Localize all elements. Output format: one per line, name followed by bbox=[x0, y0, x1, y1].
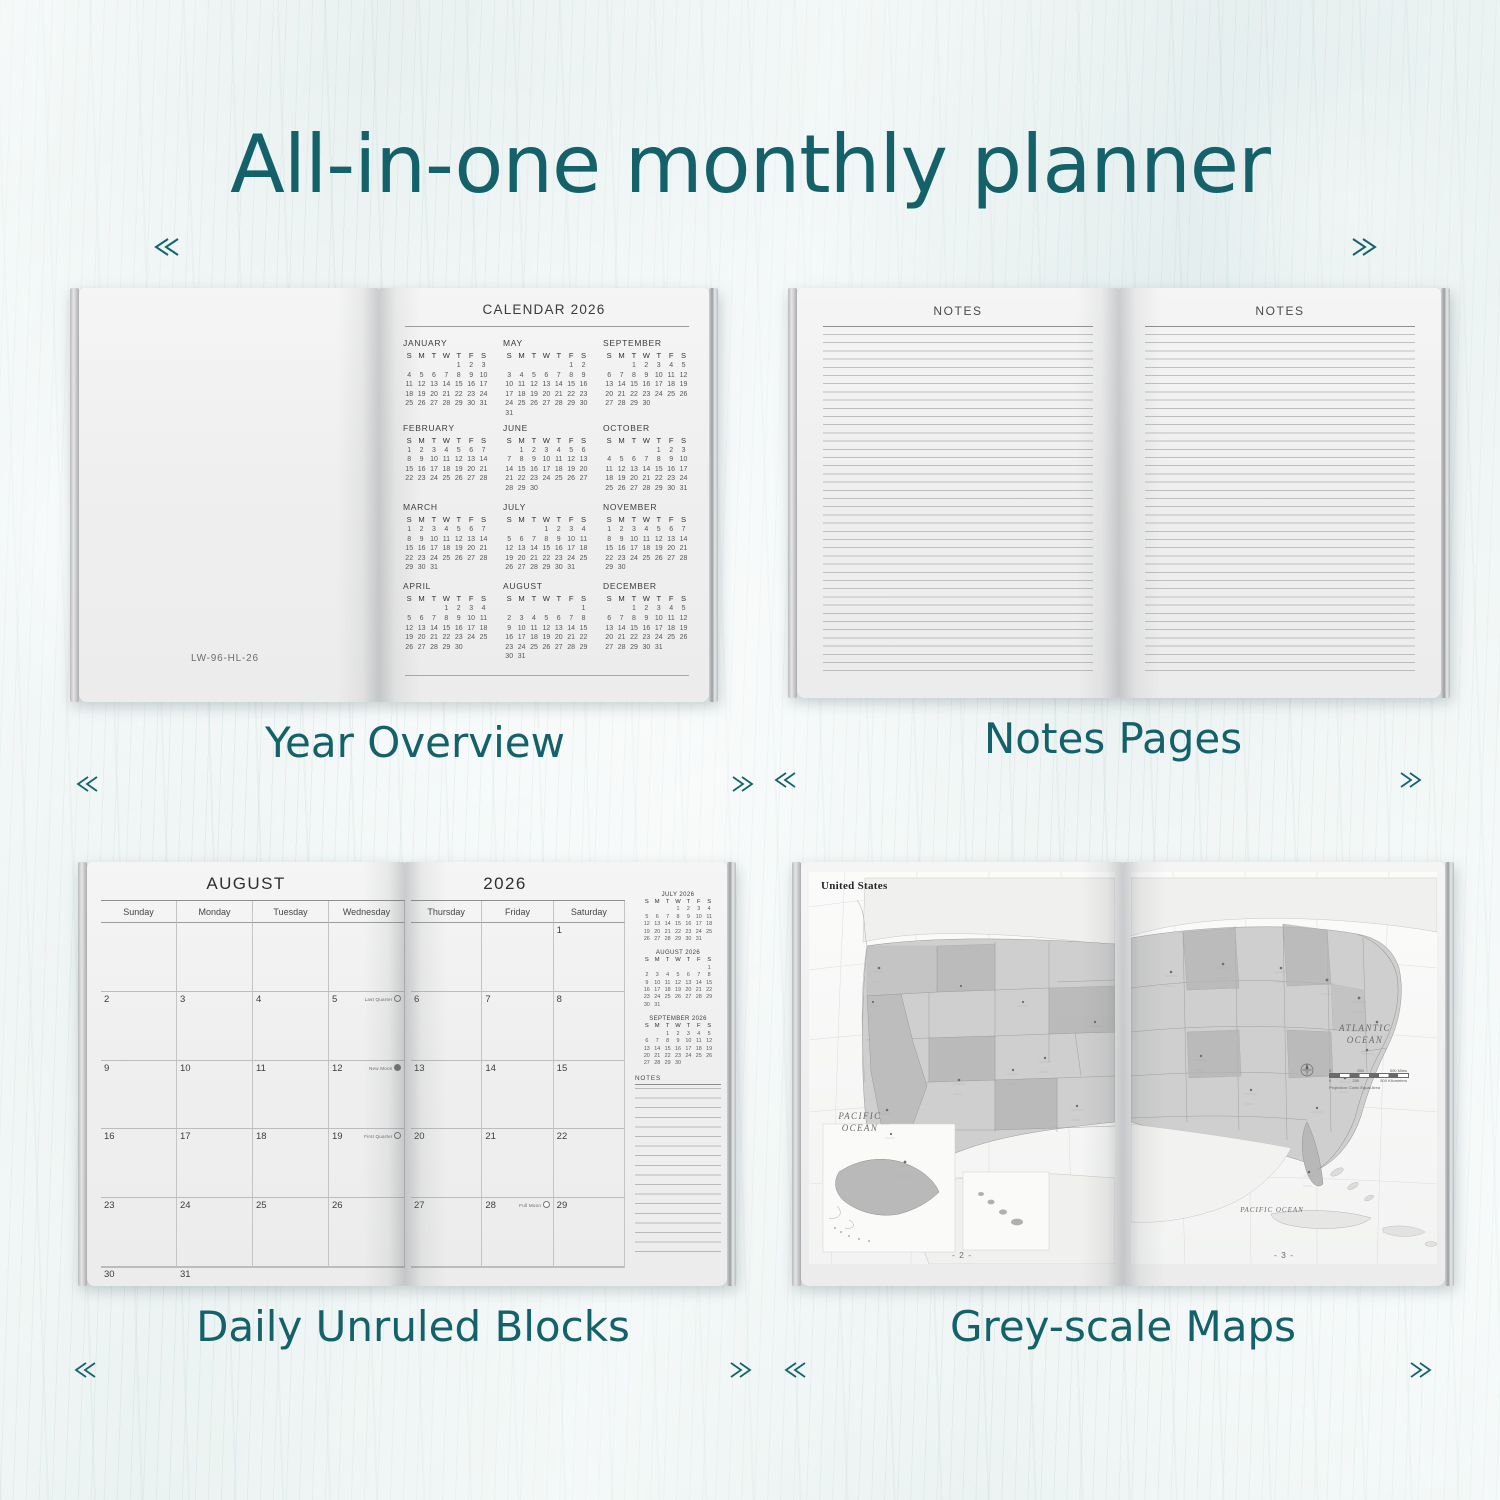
day-block[interactable]: 1 bbox=[554, 923, 625, 992]
dow-cell: S bbox=[603, 350, 615, 361]
dow-cell: M bbox=[615, 593, 627, 604]
day-cell: 6 bbox=[515, 535, 527, 545]
mini-month-name: AUGUST bbox=[503, 581, 593, 591]
dow-cell: T bbox=[428, 514, 440, 525]
day-cell: 27 bbox=[465, 474, 477, 484]
day-cell: 29 bbox=[704, 994, 714, 1001]
day-cell: 7 bbox=[615, 614, 627, 624]
day-block[interactable]: 26 bbox=[329, 1198, 405, 1267]
caption-divider bbox=[768, 772, 1428, 788]
scale-tick: 500 Kilometers bbox=[1380, 1078, 1407, 1083]
day-cell: 13 bbox=[428, 380, 440, 390]
day-cell: 30 bbox=[640, 399, 652, 409]
day-block[interactable] bbox=[554, 1267, 625, 1268]
day-cell: 26 bbox=[673, 994, 683, 1001]
dow-cell: M bbox=[515, 435, 527, 446]
dow-cell: W bbox=[440, 350, 452, 361]
day-cell: 22 bbox=[704, 987, 714, 994]
day-block[interactable]: 12New Moon bbox=[329, 1061, 405, 1130]
day-cell: 25 bbox=[553, 474, 565, 484]
day-cell: 11 bbox=[577, 535, 589, 545]
mini-month: APRILSMTWTFS1234567891011121314151617181… bbox=[403, 581, 493, 662]
day-cell: 30 bbox=[673, 1060, 683, 1067]
day-block[interactable] bbox=[482, 923, 553, 992]
day-cell: 6 bbox=[465, 446, 477, 456]
day-cell: 2 bbox=[642, 972, 652, 979]
day-cell: 8 bbox=[453, 371, 465, 381]
dow-cell: S bbox=[503, 435, 515, 446]
day-block[interactable] bbox=[177, 923, 253, 992]
day-cell: 13 bbox=[577, 455, 589, 465]
day-cell: 28 bbox=[694, 994, 704, 1001]
day-cell: 6 bbox=[553, 614, 565, 624]
day-cell: 3 bbox=[540, 446, 552, 456]
day-cell: 26 bbox=[642, 936, 652, 943]
day-block[interactable] bbox=[329, 1267, 405, 1268]
day-cell: 20 bbox=[683, 987, 693, 994]
day-cell: 22 bbox=[540, 554, 552, 564]
day-cell: 5 bbox=[565, 446, 577, 456]
day-cell: 14 bbox=[565, 624, 577, 634]
day-cell: 6 bbox=[628, 455, 640, 465]
day-cell: 10 bbox=[503, 380, 515, 390]
page-notes-right: NOTES bbox=[1119, 288, 1441, 698]
day-cell: 31 bbox=[515, 652, 527, 662]
day-cell: 28 bbox=[440, 399, 452, 409]
day-block[interactable]: 17 bbox=[177, 1129, 253, 1198]
dow-cell: F bbox=[465, 435, 477, 446]
day-block[interactable]: 9 bbox=[101, 1061, 177, 1130]
day-cell: 17 bbox=[428, 544, 440, 554]
day-cell: 29 bbox=[540, 563, 552, 573]
day-cell: 19 bbox=[673, 987, 683, 994]
dow-cell: S bbox=[704, 899, 714, 906]
day-cell: 15 bbox=[704, 980, 714, 987]
day-cell: 15 bbox=[603, 544, 615, 554]
day-cell: 19 bbox=[704, 1046, 714, 1053]
day-cell: 15 bbox=[515, 465, 527, 475]
day-block[interactable] bbox=[411, 1267, 482, 1268]
day-cell: 11 bbox=[440, 535, 452, 545]
day-cell: 17 bbox=[652, 987, 662, 994]
day-cell: 21 bbox=[615, 633, 627, 643]
day-cell: 24 bbox=[503, 399, 515, 409]
dow-cell: S bbox=[642, 1023, 652, 1030]
day-block[interactable] bbox=[253, 1267, 329, 1268]
day-block[interactable]: 28Full Moon bbox=[482, 1198, 553, 1267]
day-cell: 2 bbox=[415, 446, 427, 456]
dow-cell: F bbox=[694, 899, 704, 906]
page-number-left: - 2 - bbox=[809, 1250, 1115, 1260]
caption-divider bbox=[70, 776, 760, 792]
day-cell: 4 bbox=[528, 614, 540, 624]
day-cell: 25 bbox=[704, 929, 714, 936]
dow-cell: F bbox=[565, 350, 577, 361]
day-number: 1 bbox=[557, 925, 562, 936]
day-cell: 28 bbox=[565, 643, 577, 653]
day-cell: 15 bbox=[540, 544, 552, 554]
day-block[interactable]: 19First Quarter bbox=[329, 1129, 405, 1198]
dow-cell: S bbox=[704, 957, 714, 964]
day-cell: 20 bbox=[652, 929, 662, 936]
day-cell: 23 bbox=[640, 633, 652, 643]
day-block[interactable]: 25 bbox=[253, 1198, 329, 1267]
day-cell: 31 bbox=[653, 643, 665, 653]
day-cell: 9 bbox=[553, 535, 565, 545]
dow-cell: M bbox=[515, 350, 527, 361]
scale-tick: 0 bbox=[1329, 1068, 1331, 1073]
notes-ruled-lines-left bbox=[823, 334, 1093, 672]
day-block[interactable]: 10 bbox=[177, 1061, 253, 1130]
dow-cell: S bbox=[403, 593, 415, 604]
day-block[interactable]: 30 bbox=[101, 1267, 177, 1268]
dow-cell: F bbox=[694, 1023, 704, 1030]
day-cell: 23 bbox=[665, 474, 677, 484]
map-sheet-left: United States bbox=[809, 872, 1115, 1264]
day-block[interactable]: 24 bbox=[177, 1198, 253, 1267]
dow-cell: T bbox=[528, 593, 540, 604]
dow-cell: S bbox=[403, 514, 415, 525]
day-block[interactable]: 13 bbox=[411, 1061, 482, 1130]
day-cell: 11 bbox=[665, 614, 677, 624]
day-cell: 16 bbox=[642, 987, 652, 994]
infographic-canvas: All-in-one monthly planner LW-96-HL-26 C… bbox=[0, 0, 1500, 1500]
day-block[interactable] bbox=[101, 923, 177, 992]
day-cell: 28 bbox=[477, 474, 489, 484]
day-cell: 19 bbox=[677, 380, 689, 390]
dow-cell: S bbox=[642, 957, 652, 964]
day-cell: 28 bbox=[640, 484, 652, 494]
dow-cell: S bbox=[603, 593, 615, 604]
day-cell: 30 bbox=[553, 563, 565, 573]
day-cell: 16 bbox=[673, 1046, 683, 1053]
page-year-calendar: CALENDAR 2026 JANUARYSMTWTFS123456789101… bbox=[379, 288, 709, 702]
dow-cell: F bbox=[565, 435, 577, 446]
day-cell: 19 bbox=[653, 544, 665, 554]
mini-month-name: JULY bbox=[503, 502, 593, 512]
day-cell: 28 bbox=[677, 554, 689, 564]
map-sheet-right: ATLANTIC OCEAN 0 250 bbox=[1131, 872, 1437, 1264]
notes-rule-right bbox=[1145, 326, 1415, 327]
dow-cell: T bbox=[653, 350, 665, 361]
mini-month-name: SEPTEMBER 2026 bbox=[635, 1016, 721, 1022]
day-block[interactable]: 15 bbox=[554, 1061, 625, 1130]
day-cell: 11 bbox=[553, 455, 565, 465]
day-cell: 22 bbox=[673, 929, 683, 936]
day-cell: 3 bbox=[465, 604, 477, 614]
day-block[interactable] bbox=[482, 1267, 553, 1268]
day-cell: 9 bbox=[642, 980, 652, 987]
day-block[interactable]: 4 bbox=[253, 992, 329, 1061]
day-cell: 11 bbox=[528, 624, 540, 634]
book-edge-left bbox=[792, 862, 801, 1286]
day-cell: 1 bbox=[704, 965, 714, 972]
day-cell: 27 bbox=[652, 936, 662, 943]
day-cell: 12 bbox=[453, 535, 465, 545]
page-number-right: - 3 - bbox=[1131, 1250, 1437, 1260]
notes-rule-left bbox=[823, 326, 1093, 327]
day-block[interactable]: 16 bbox=[101, 1129, 177, 1198]
day-number: 12 bbox=[332, 1063, 343, 1074]
day-cell: 12 bbox=[673, 980, 683, 987]
day-cell: 17 bbox=[653, 624, 665, 634]
day-block[interactable]: 27 bbox=[411, 1198, 482, 1267]
day-cell: 14 bbox=[553, 380, 565, 390]
dow-cell: S bbox=[677, 435, 689, 446]
day-block[interactable]: 11 bbox=[253, 1061, 329, 1130]
mini-month: AUGUSTSMTWTFS123456789101112131415161718… bbox=[503, 581, 593, 662]
dow-cell: W bbox=[640, 350, 652, 361]
day-cell: 29 bbox=[565, 399, 577, 409]
day-cell: 12 bbox=[615, 465, 627, 475]
day-cell: 6 bbox=[465, 525, 477, 535]
day-block[interactable]: 2 bbox=[101, 992, 177, 1061]
moon-phase-label: First Quarter bbox=[364, 1132, 401, 1139]
day-cell: 14 bbox=[615, 624, 627, 634]
day-block[interactable] bbox=[411, 923, 482, 992]
day-cell: 26 bbox=[677, 390, 689, 400]
day-cell: 3 bbox=[683, 1031, 693, 1038]
day-block[interactable]: 23 bbox=[101, 1198, 177, 1267]
day-number: 25 bbox=[256, 1200, 267, 1211]
mini-month-name: NOVEMBER bbox=[603, 502, 693, 512]
day-cell: 16 bbox=[577, 380, 589, 390]
day-cell: 1 bbox=[565, 361, 577, 371]
day-cell: 6 bbox=[642, 1038, 652, 1045]
day-block[interactable]: 14 bbox=[482, 1061, 553, 1130]
day-block[interactable]: 5Last Quarter bbox=[329, 992, 405, 1061]
dow-cell: T bbox=[553, 350, 565, 361]
day-cell: 23 bbox=[465, 390, 477, 400]
day-cell: 20 bbox=[415, 633, 427, 643]
day-cell: 7 bbox=[428, 614, 440, 624]
scale-tick: 500 Miles bbox=[1390, 1068, 1407, 1073]
day-cell: 8 bbox=[628, 371, 640, 381]
day-cell: 14 bbox=[477, 535, 489, 545]
day-cell: 28 bbox=[615, 643, 627, 653]
dow-cell: M bbox=[615, 435, 627, 446]
day-cell: 18 bbox=[553, 465, 565, 475]
day-cell: 8 bbox=[628, 614, 640, 624]
day-cell: 27 bbox=[665, 554, 677, 564]
day-cell: 17 bbox=[694, 921, 704, 928]
day-cell: 24 bbox=[652, 994, 662, 1001]
day-cell: 21 bbox=[677, 544, 689, 554]
day-cell: 16 bbox=[553, 544, 565, 554]
day-cell: 3 bbox=[503, 371, 515, 381]
day-block[interactable] bbox=[253, 923, 329, 992]
day-cell: 10 bbox=[540, 455, 552, 465]
day-cell: 26 bbox=[704, 1053, 714, 1060]
dow-cell: T bbox=[428, 350, 440, 361]
day-cell: 18 bbox=[704, 921, 714, 928]
day-number: 11 bbox=[256, 1063, 266, 1074]
caption-divider bbox=[68, 1362, 758, 1378]
day-cell: 25 bbox=[403, 399, 415, 409]
day-cell: 6 bbox=[603, 371, 615, 381]
day-cell: 7 bbox=[477, 525, 489, 535]
day-block[interactable]: 6 bbox=[411, 992, 482, 1061]
day-cell: 29 bbox=[662, 1060, 672, 1067]
dow-cell: W bbox=[640, 593, 652, 604]
product-code: LW-96-HL-26 bbox=[191, 653, 259, 664]
dow-cell: T bbox=[662, 957, 672, 964]
day-block[interactable]: 3 bbox=[177, 992, 253, 1061]
dow-cell: M bbox=[615, 350, 627, 361]
day-block[interactable]: 18 bbox=[253, 1129, 329, 1198]
weekday-header: Sunday bbox=[101, 901, 177, 923]
day-cell: 5 bbox=[503, 535, 515, 545]
day-number: 31 bbox=[180, 1269, 191, 1280]
day-block[interactable]: 7 bbox=[482, 992, 553, 1061]
day-block[interactable]: 29 bbox=[554, 1198, 625, 1267]
day-block[interactable]: 21 bbox=[482, 1129, 553, 1198]
dow-cell: T bbox=[553, 593, 565, 604]
day-cell: 2 bbox=[640, 361, 652, 371]
day-cell: 27 bbox=[428, 399, 440, 409]
day-cell: 18 bbox=[403, 390, 415, 400]
day-number: 22 bbox=[557, 1131, 568, 1142]
day-cell: 17 bbox=[565, 544, 577, 554]
day-cell: 2 bbox=[553, 525, 565, 535]
page-blank-left: LW-96-HL-26 bbox=[79, 288, 379, 702]
day-cell: 7 bbox=[652, 1038, 662, 1045]
day-cell: 29 bbox=[453, 399, 465, 409]
day-cell: 9 bbox=[640, 371, 652, 381]
mini-month-name: FEBRUARY bbox=[403, 423, 493, 433]
dow-cell: S bbox=[603, 514, 615, 525]
day-cell: 6 bbox=[683, 972, 693, 979]
day-cell: 26 bbox=[615, 484, 627, 494]
day-cell: 18 bbox=[640, 544, 652, 554]
caption-maps: Grey-scale Maps bbox=[778, 1302, 1468, 1351]
mini-month: JANUARYSMTWTFS12345678910111213141516171… bbox=[403, 338, 493, 419]
sidebar-notes-lines[interactable] bbox=[635, 1088, 721, 1258]
day-cell: 26 bbox=[453, 554, 465, 564]
day-cell: 14 bbox=[640, 465, 652, 475]
dow-cell: S bbox=[577, 350, 589, 361]
day-cell: 10 bbox=[428, 535, 440, 545]
day-block[interactable] bbox=[329, 923, 405, 992]
day-cell: 28 bbox=[503, 484, 515, 494]
day-cell: 10 bbox=[465, 614, 477, 624]
dow-cell: T bbox=[628, 435, 640, 446]
day-cell: 20 bbox=[540, 390, 552, 400]
dow-cell: S bbox=[677, 593, 689, 604]
day-cell: 13 bbox=[652, 921, 662, 928]
dow-cell: S bbox=[642, 899, 652, 906]
monthly-sidebar: JULY 2026SMTWTFS123456789101112131415161… bbox=[635, 892, 721, 1258]
map-scale-bar: 0 250 500 Miles 0 250 500 Kilometers Pro… bbox=[1329, 1068, 1409, 1090]
day-cell: 8 bbox=[440, 614, 452, 624]
day-cell: 15 bbox=[403, 544, 415, 554]
day-cell: 12 bbox=[677, 614, 689, 624]
day-cell: 25 bbox=[477, 633, 489, 643]
dow-cell: M bbox=[415, 435, 427, 446]
day-cell: 19 bbox=[453, 465, 465, 475]
day-cell: 15 bbox=[628, 624, 640, 634]
day-cell: 4 bbox=[640, 525, 652, 535]
mini-month-grid: JANUARYSMTWTFS12345678910111213141516171… bbox=[403, 338, 693, 662]
day-cell: 9 bbox=[577, 371, 589, 381]
calendar-year-title: CALENDAR 2026 bbox=[379, 302, 709, 317]
day-cell: 21 bbox=[662, 929, 672, 936]
day-cell: 27 bbox=[465, 554, 477, 564]
day-block[interactable]: 22 bbox=[554, 1129, 625, 1198]
day-cell: 23 bbox=[415, 474, 427, 484]
dow-cell: S bbox=[477, 350, 489, 361]
day-number: 8 bbox=[557, 994, 562, 1005]
day-cell: 3 bbox=[694, 906, 704, 913]
mini-month: DECEMBERSMTWTFS1234567891011121314151617… bbox=[603, 581, 693, 662]
dow-cell: M bbox=[415, 593, 427, 604]
day-number: 21 bbox=[485, 1131, 496, 1142]
map-projection-note: Projection: Conic Equal Area bbox=[1329, 1085, 1409, 1090]
notes-title-left: NOTES bbox=[797, 304, 1119, 318]
day-cell: 13 bbox=[465, 535, 477, 545]
day-cell: 29 bbox=[603, 563, 615, 573]
day-block[interactable]: 8 bbox=[554, 992, 625, 1061]
day-block[interactable]: 31 bbox=[177, 1267, 253, 1268]
day-cell: 22 bbox=[603, 554, 615, 564]
day-cell: 7 bbox=[440, 371, 452, 381]
dow-cell: S bbox=[577, 514, 589, 525]
day-cell: 15 bbox=[653, 465, 665, 475]
day-cell: 17 bbox=[677, 465, 689, 475]
day-cell: 30 bbox=[453, 643, 465, 653]
day-number: 15 bbox=[557, 1063, 568, 1074]
day-number: 13 bbox=[414, 1063, 425, 1074]
day-cell: 15 bbox=[673, 921, 683, 928]
day-number: 26 bbox=[332, 1200, 343, 1211]
dow-cell: S bbox=[503, 350, 515, 361]
dow-cell: S bbox=[503, 593, 515, 604]
day-cell: 24 bbox=[477, 390, 489, 400]
sidebar-notes-rule bbox=[635, 1084, 721, 1085]
dow-cell: T bbox=[653, 435, 665, 446]
book-edge-right bbox=[1445, 862, 1454, 1286]
day-number: 30 bbox=[104, 1269, 115, 1280]
page-title: All-in-one monthly planner bbox=[0, 118, 1500, 211]
dow-cell: F bbox=[694, 957, 704, 964]
dow-cell: T bbox=[528, 350, 540, 361]
day-cell: 23 bbox=[503, 643, 515, 653]
day-cell: 31 bbox=[428, 563, 440, 573]
day-block[interactable]: 20 bbox=[411, 1129, 482, 1198]
day-cell: 4 bbox=[477, 604, 489, 614]
day-cell: 16 bbox=[615, 544, 627, 554]
day-cell: 24 bbox=[653, 390, 665, 400]
day-cell: 26 bbox=[415, 399, 427, 409]
day-cell: 16 bbox=[453, 624, 465, 634]
day-cell: 3 bbox=[653, 361, 665, 371]
day-cell: 23 bbox=[528, 474, 540, 484]
day-cell: 19 bbox=[615, 474, 627, 484]
day-cell: 9 bbox=[683, 914, 693, 921]
day-cell: 25 bbox=[665, 633, 677, 643]
day-cell: 5 bbox=[453, 525, 465, 535]
day-cell: 9 bbox=[465, 371, 477, 381]
day-cell: 1 bbox=[653, 446, 665, 456]
day-cell: 21 bbox=[528, 554, 540, 564]
mini-month-name: JANUARY bbox=[403, 338, 493, 348]
day-cell: 21 bbox=[652, 1053, 662, 1060]
day-cell: 17 bbox=[540, 465, 552, 475]
day-cell: 21 bbox=[553, 390, 565, 400]
dow-cell: T bbox=[553, 514, 565, 525]
day-cell: 16 bbox=[415, 465, 427, 475]
compass-rose-icon bbox=[1299, 1062, 1315, 1078]
